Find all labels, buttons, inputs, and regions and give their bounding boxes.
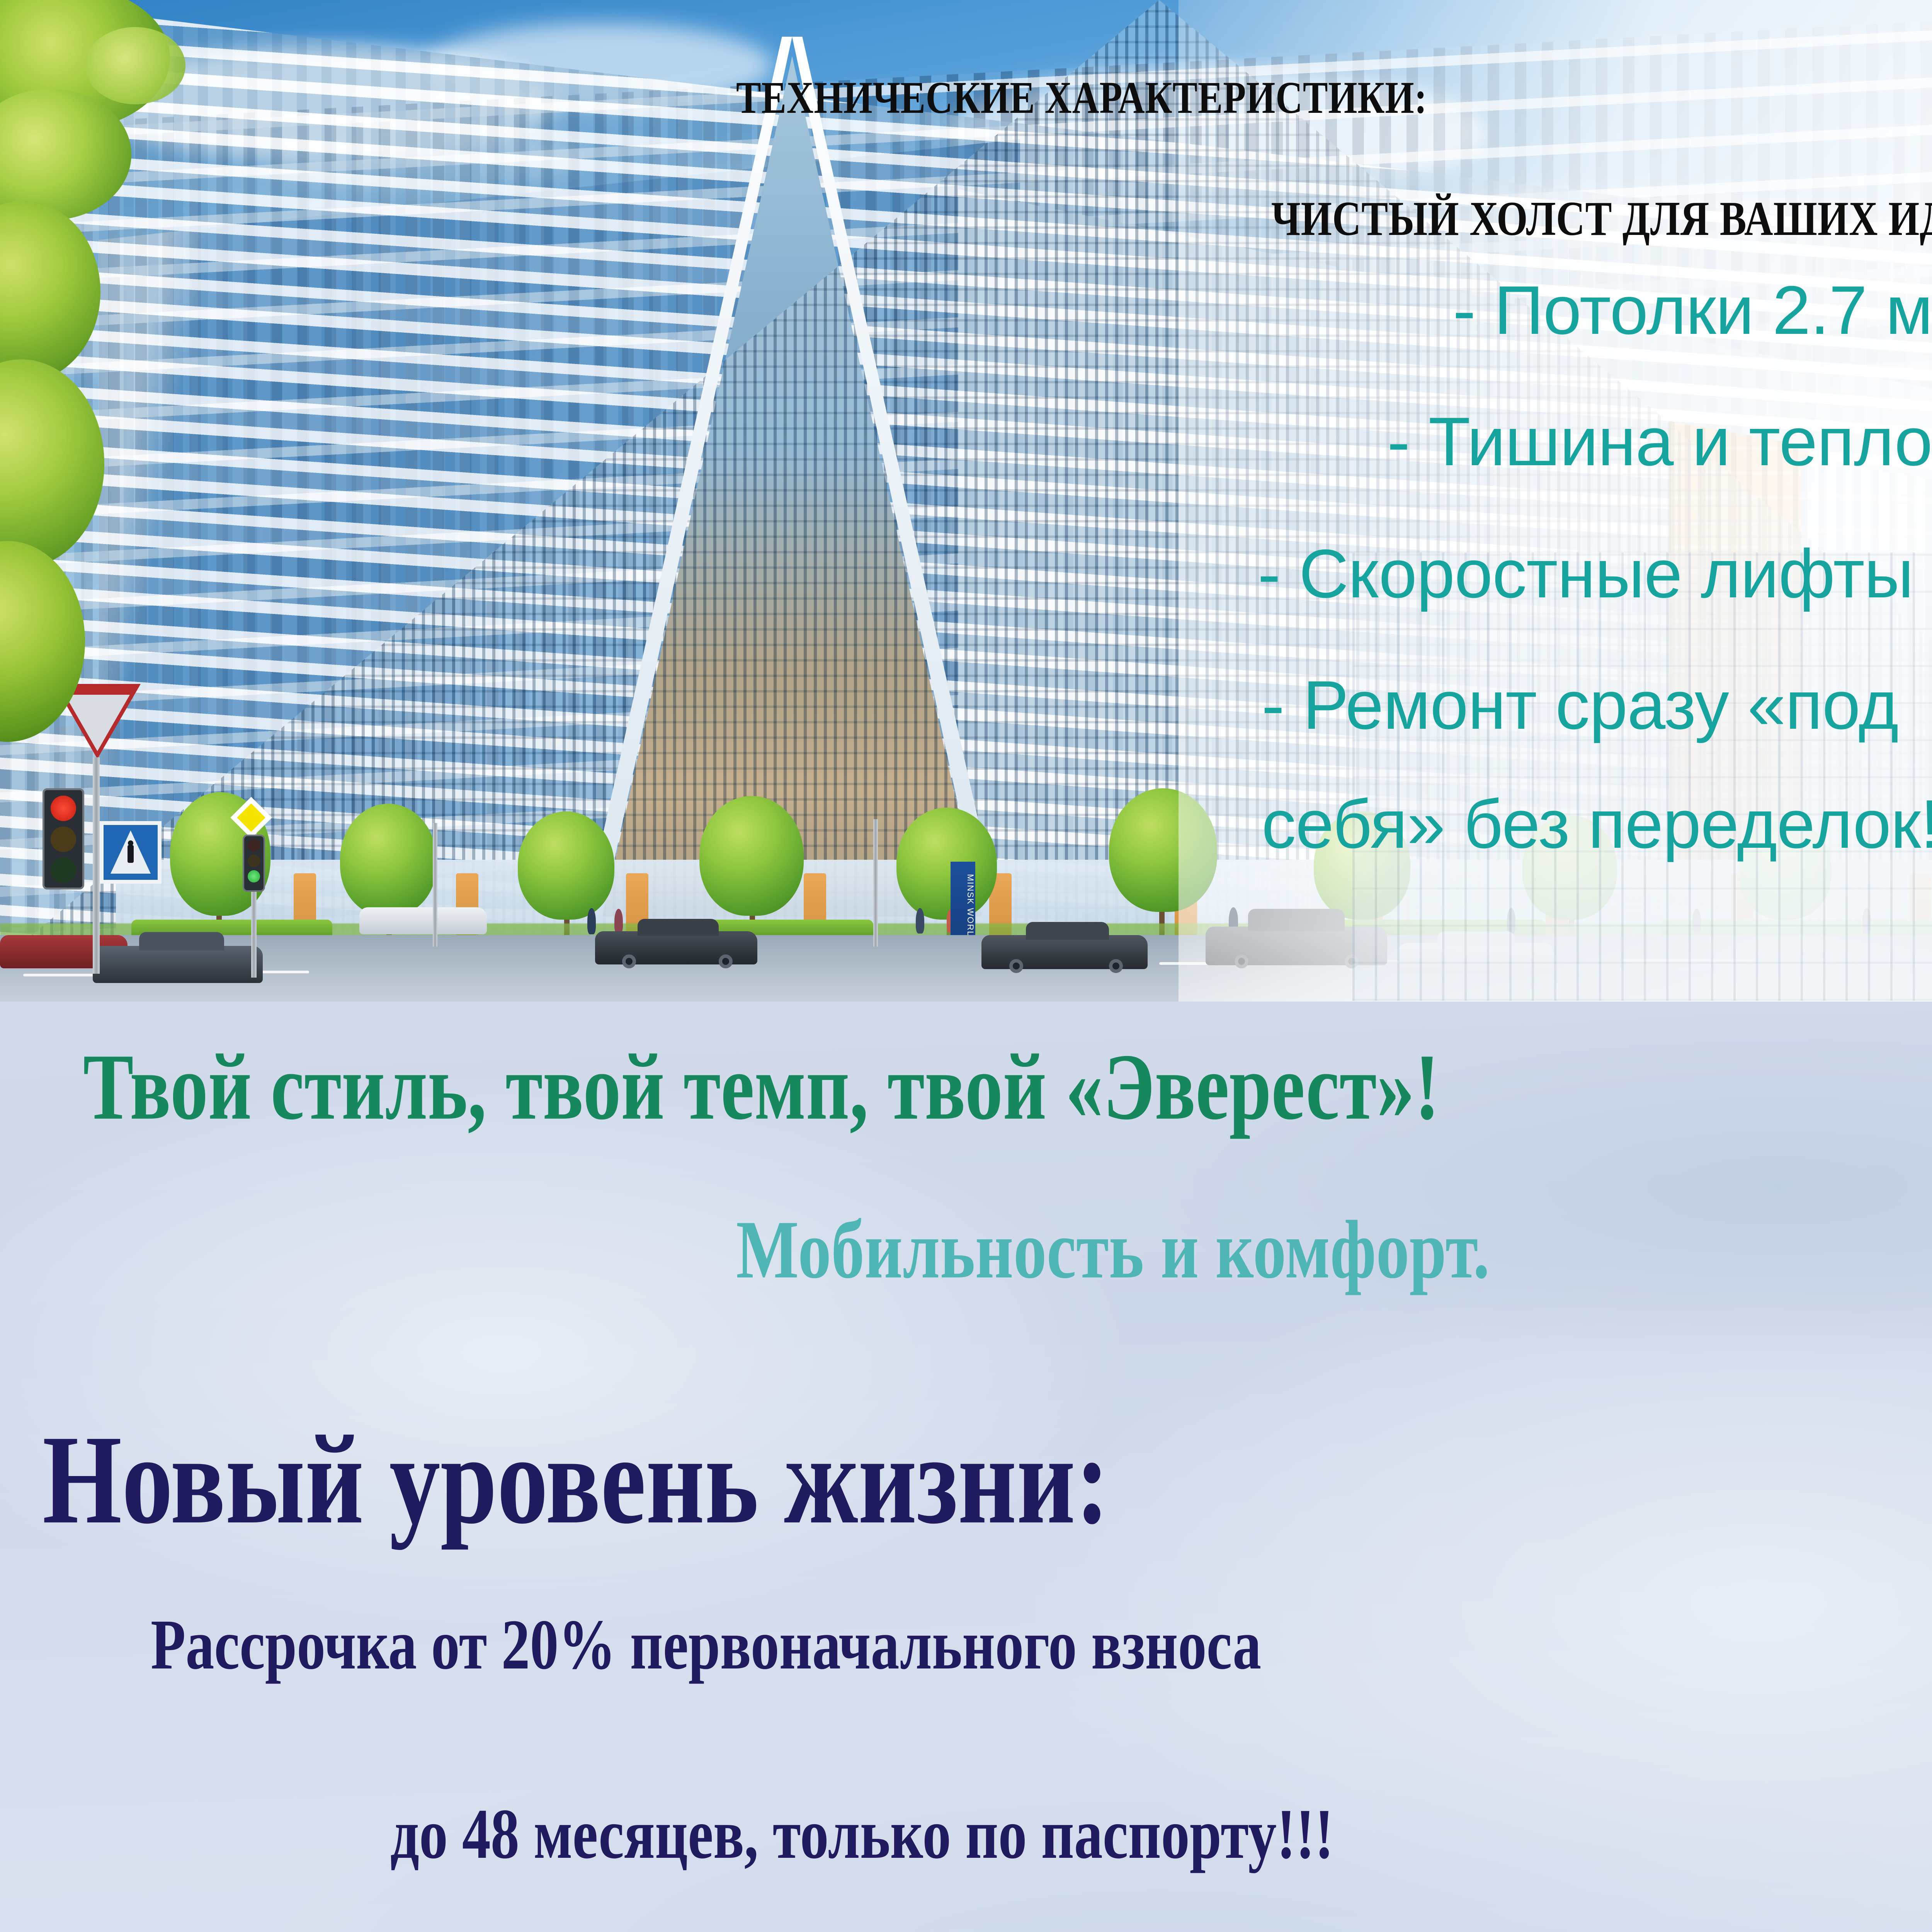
car-wheel [622,954,636,968]
car [93,946,263,983]
pedestrian [614,909,623,934]
car [359,907,487,934]
car-roof [638,919,719,936]
car-roof [1026,922,1109,940]
feature-item-renovation-line1: - Ремонт сразу «под [1262,665,1898,745]
tree-foliage [85,27,185,104]
crossing-pedestrian-head [128,840,133,846]
pedestrian-crossing-sign [100,821,162,884]
crossing-pedestrian-glyph [128,845,134,863]
street-lamp-pole [433,823,437,947]
feature-item-ceilings: - Потолки 2.7 м [1453,270,1932,350]
ghost-building-overlay [1352,553,1932,1001]
traffic-light-red-lamp [51,796,76,821]
pedestrian [916,908,924,934]
traffic-light-amber-lamp [51,827,76,852]
offer-installment-line1: Рассрочка от 20% первоначального взноса [151,1604,1261,1686]
canvas-heading: ЧИСТЫЙ ХОЛСТ ДЛЯ ВАШИХ ИДЕЙ [1271,191,1932,247]
traffic-light-green-lamp [51,857,76,883]
sign-pole [93,757,100,974]
traffic-light [43,788,84,889]
car-roof [139,932,224,951]
feature-item-fast-elevators: - Скоростные лифты [1258,534,1913,613]
tree [518,811,614,920]
yield-sign-inner [65,695,130,751]
tree [699,796,804,916]
traffic-light-red-lamp [248,839,260,852]
feature-item-renovation-line2: себя» без переделок! [1262,784,1932,864]
car-wheel [1109,959,1123,973]
traffic-light-amber-lamp [248,855,260,867]
street-lamp-pole [873,819,878,947]
traffic-light-green-lamp [248,870,260,883]
car-wheel [719,954,733,968]
background-wash [0,1063,1159,1642]
tree [340,804,437,916]
offer-lead-heading: Новый уровень жизни: [43,1406,1109,1553]
tagline-mobility-comfort: Мобильность и комфорт. [736,1202,1490,1298]
tree [896,808,997,920]
pedestrian [587,908,596,934]
feature-item-quiet-warm: - Тишина и тепло [1387,402,1932,481]
traffic-light-secondary [243,835,265,892]
specs-heading: ТЕХНИЧЕСКИЕ ХАРАКТЕРИСТИКИ: [736,71,1427,124]
offer-installment-line2: до 48 месяцев, только по паспорту!!! [390,1793,1334,1875]
advertisement-poster: MINSK WORLD [0,0,1932,1932]
car-wheel [1009,959,1023,973]
car [595,931,757,964]
ghost-building-glazing [1352,553,1932,1001]
tagline-your-style: Твой стиль, твой темп, твой «Эверест»! [83,1032,1440,1141]
